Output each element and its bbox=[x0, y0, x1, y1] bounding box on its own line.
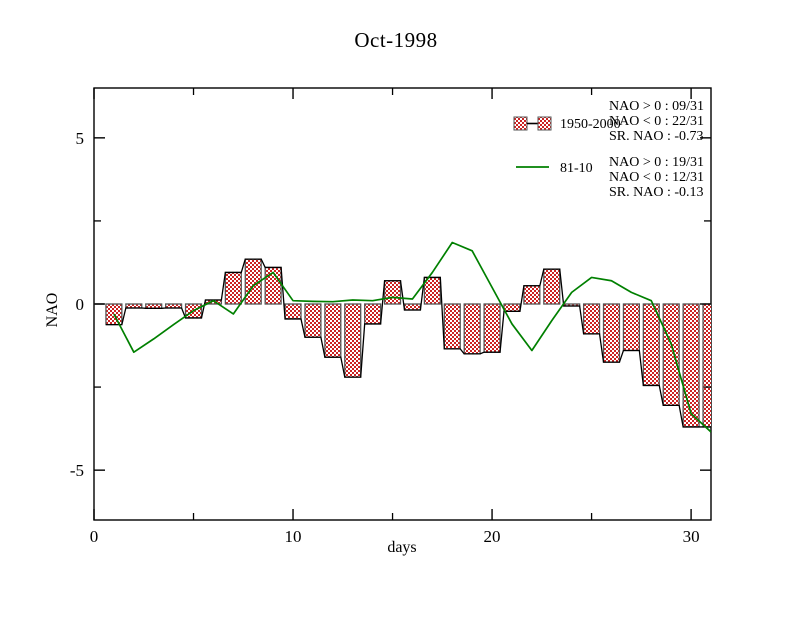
bar-day-19 bbox=[464, 304, 480, 354]
plot-area-container: 010203050-5 days NAO 1950-2000 81-10 NAO… bbox=[0, 0, 792, 617]
legend-label-81-10: 81-10 bbox=[560, 161, 593, 176]
annotation-sr-nao-8110: SR. NAO : -0.13 bbox=[609, 185, 704, 200]
y-tick-label--5: -5 bbox=[70, 461, 84, 480]
legend: 1950-2000 81-10 bbox=[514, 117, 621, 176]
legend-bar-swatch-left bbox=[514, 117, 527, 130]
bar-day-30 bbox=[683, 304, 699, 427]
annotation-block-81-10: NAO > 0 : 19/31 NAO < 0 : 12/31 SR. NAO … bbox=[609, 155, 704, 200]
x-tick-label-0: 0 bbox=[90, 527, 99, 546]
annotation-block-1950-2000: NAO > 0 : 09/31 NAO < 0 : 22/31 SR. NAO … bbox=[609, 99, 704, 144]
y-tick-label-0: 0 bbox=[76, 295, 85, 314]
legend-bar-swatch-right bbox=[538, 117, 551, 130]
annotation-sr-nao-1950: SR. NAO : -0.73 bbox=[609, 129, 704, 144]
bar-day-26 bbox=[604, 304, 620, 362]
bar-day-16 bbox=[404, 304, 420, 310]
bar-day-28 bbox=[643, 304, 659, 385]
bars-1950-2000 bbox=[106, 259, 719, 427]
x-tick-label-20: 20 bbox=[484, 527, 501, 546]
annotation-nao-negative-1950: NAO < 0 : 22/31 bbox=[609, 114, 704, 129]
bar-day-31 bbox=[703, 304, 719, 427]
bar-day-11 bbox=[305, 304, 321, 337]
bar-day-20 bbox=[484, 304, 500, 352]
bar-day-22 bbox=[524, 286, 540, 304]
annotation-nao-negative-8110: NAO < 0 : 12/31 bbox=[609, 170, 704, 185]
bar-day-12 bbox=[325, 304, 341, 357]
bar-day-21 bbox=[504, 304, 520, 311]
bar-day-7 bbox=[225, 272, 241, 304]
x-tick-label-10: 10 bbox=[285, 527, 302, 546]
annotation-nao-positive-1950: NAO > 0 : 09/31 bbox=[609, 99, 704, 114]
legend-entry-81-10[interactable]: 81-10 bbox=[516, 161, 593, 176]
annotation-nao-positive-8110: NAO > 0 : 19/31 bbox=[609, 155, 704, 170]
bar-day-25 bbox=[584, 304, 600, 334]
x-axis-label: days bbox=[387, 539, 416, 556]
line-81-10 bbox=[114, 243, 711, 432]
line-path-81-10 bbox=[114, 243, 711, 432]
y-axis-label: NAO bbox=[44, 293, 61, 328]
bar-day-23 bbox=[544, 269, 560, 304]
bar-day-27 bbox=[623, 304, 639, 351]
y-tick-label-5: 5 bbox=[76, 129, 85, 148]
bar-day-17 bbox=[424, 277, 440, 304]
bar-day-18 bbox=[444, 304, 460, 349]
chart-figure: Oct-1998 010203050-5 days bbox=[0, 0, 792, 612]
bar-day-10 bbox=[285, 304, 301, 319]
bar-day-14 bbox=[365, 304, 381, 324]
legend-entry-1950-2000[interactable]: 1950-2000 bbox=[514, 117, 621, 132]
bar-day-15 bbox=[385, 281, 401, 304]
nao-chart-svg: 010203050-5 days NAO 1950-2000 81-10 NAO… bbox=[0, 0, 792, 612]
bar-day-29 bbox=[663, 304, 679, 405]
x-tick-label-30: 30 bbox=[683, 527, 700, 546]
bar-day-13 bbox=[345, 304, 361, 377]
